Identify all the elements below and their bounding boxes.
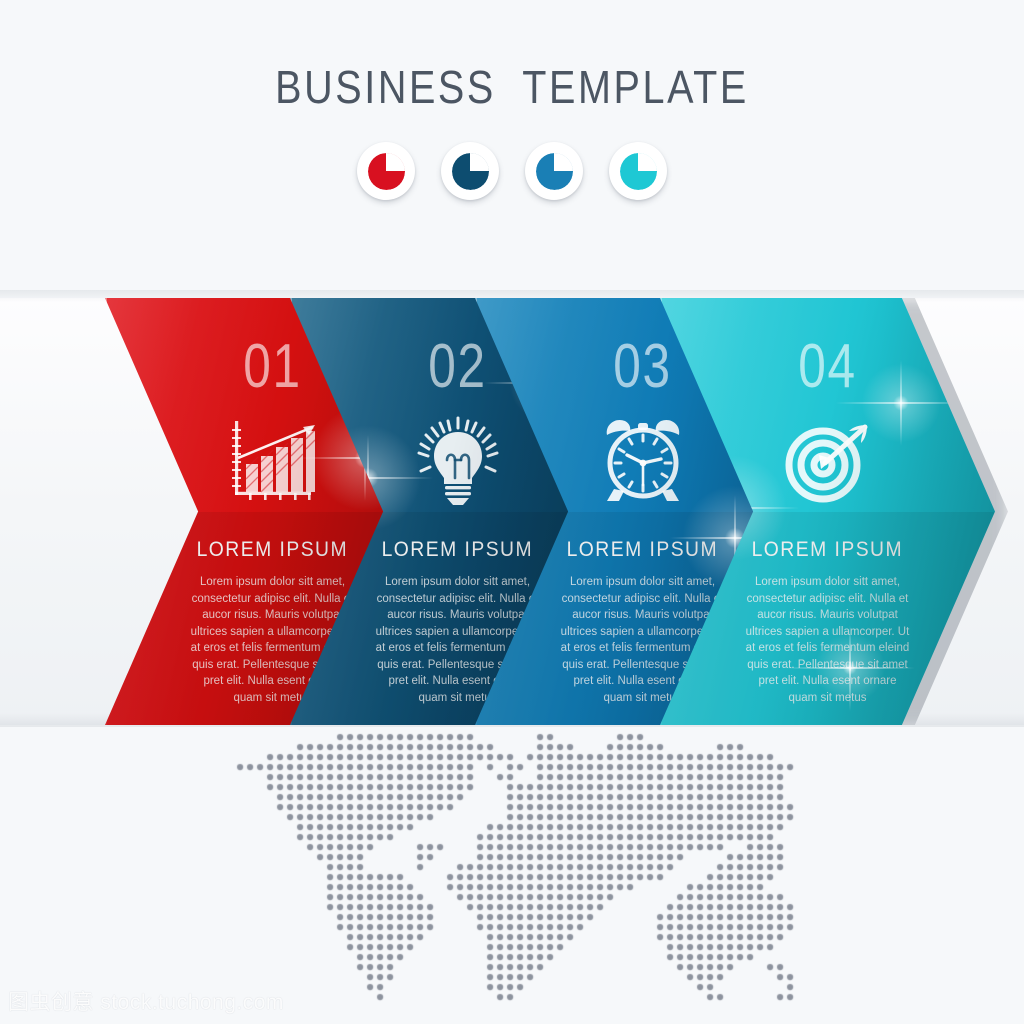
step-panels: 01 xyxy=(0,298,1024,725)
alarm-clock-icon xyxy=(597,414,689,506)
bar-chart-growth-icon xyxy=(227,414,319,506)
step-heading: LOREM IPSUM xyxy=(382,538,533,562)
pie-badge-red[interactable] xyxy=(357,142,415,200)
header: BUSINESS TEMPLATE xyxy=(0,60,1024,114)
pie-chart-icon xyxy=(536,153,573,190)
step-number: 02 xyxy=(428,336,486,398)
step-heading: LOREM IPSUM xyxy=(197,538,348,562)
watermark: 图虫创意 stock.tuchong.com xyxy=(8,986,284,1016)
pie-chart-icon xyxy=(620,153,657,190)
lightbulb-idea-icon xyxy=(414,414,502,506)
step-number: 01 xyxy=(243,336,301,398)
dotted-world-map xyxy=(236,733,796,1008)
target-arrow-icon xyxy=(781,414,875,506)
pie-badge-blue[interactable] xyxy=(525,142,583,200)
step-number: 04 xyxy=(798,336,856,398)
pie-chart-icon xyxy=(452,153,489,190)
step-body: Lorem ipsum dolor sitt amet, consectetur… xyxy=(744,574,912,706)
step-number: 03 xyxy=(613,336,671,398)
pie-badge-navy[interactable] xyxy=(441,142,499,200)
pie-chart-icon xyxy=(368,153,405,190)
infographic-canvas: BUSINESS TEMPLATE 01 xyxy=(0,0,1024,1024)
pie-badge-row xyxy=(0,142,1024,200)
pie-badge-cyan[interactable] xyxy=(609,142,667,200)
step-heading: LOREM IPSUM xyxy=(752,538,903,562)
page-title: BUSINESS TEMPLATE xyxy=(72,60,953,114)
step-heading: LOREM IPSUM xyxy=(567,538,718,562)
